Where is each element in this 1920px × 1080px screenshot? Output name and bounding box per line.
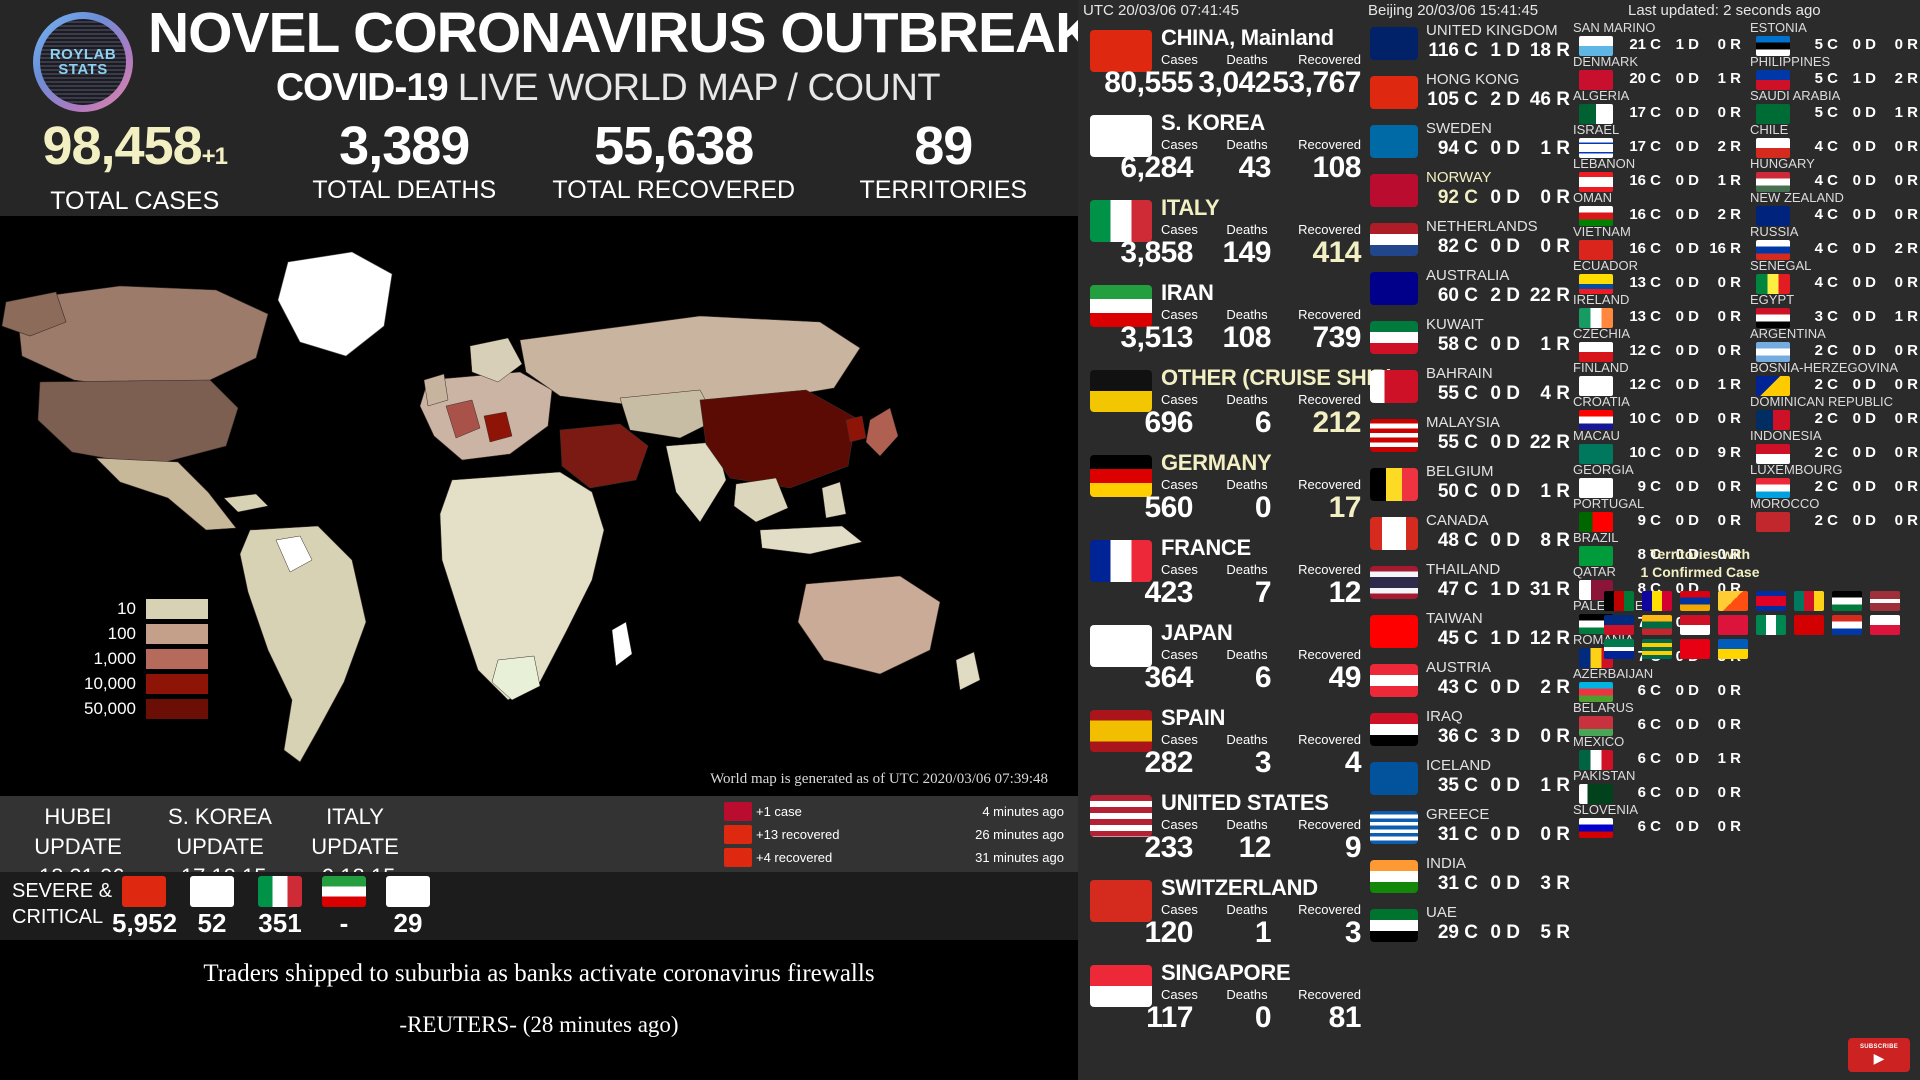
- value-deaths: 0 D: [1661, 206, 1699, 223]
- country-row-norway[interactable]: NORWAY92 C0 D0 R: [1368, 169, 1568, 218]
- country-row-croatia[interactable]: CROATIA10 C0 D0 R: [1573, 396, 1745, 430]
- country-row-vietnam[interactable]: VIETNAM16 C0 D16 R: [1573, 226, 1745, 260]
- legend-swatch: [146, 699, 208, 719]
- value-recovered: 1 R: [1520, 334, 1570, 356]
- country-row-kuwait[interactable]: KUWAIT58 C0 D1 R: [1368, 316, 1568, 365]
- country-stat-values: 105 C2 D46 R: [1418, 89, 1570, 111]
- country-name: MOROCCO: [1750, 496, 1819, 511]
- country-stat-values: 10 C0 D0 R: [1617, 410, 1745, 427]
- header-recovered: Recovered: [1289, 222, 1361, 237]
- value-cases: 364: [1083, 661, 1193, 695]
- territory-flag-afghanistan: [1604, 591, 1634, 611]
- country-row-georgia[interactable]: GEORGIA9 C0 D0 R: [1573, 464, 1745, 498]
- value-cases: 50 C: [1418, 481, 1478, 503]
- territory-flag-monaco: [1680, 615, 1710, 635]
- value-recovered: 1 R: [1876, 104, 1918, 121]
- value-recovered: 0 R: [1876, 512, 1918, 529]
- country-flag-croatia: [1579, 410, 1613, 430]
- territory-flag-bhutan: [1718, 591, 1748, 611]
- value-deaths: 0 D: [1661, 512, 1699, 529]
- country-flag-greece: [1370, 811, 1418, 844]
- legend-swatch: [146, 674, 208, 694]
- value-cases: 5 C: [1794, 70, 1838, 87]
- news-ticker: Traders shipped to suburbia as banks act…: [0, 940, 1078, 1080]
- subscribe-play-icon: ▶: [1874, 1050, 1885, 1067]
- country-row-iraq[interactable]: IRAQ36 C3 D0 R: [1368, 708, 1568, 757]
- value-recovered: 0 R: [1876, 478, 1918, 495]
- country-row-chile[interactable]: CHILE4 C0 D0 R: [1750, 124, 1920, 158]
- country-stat-headers: CasesDeathsRecovered: [1161, 307, 1361, 322]
- country-row-uae[interactable]: UAE29 C0 D5 R: [1368, 904, 1568, 953]
- country-stat-values: 9 C0 D0 R: [1617, 478, 1745, 495]
- value-deaths: 0 D: [1661, 104, 1699, 121]
- value-deaths: 6: [1193, 661, 1271, 695]
- country-flag-kuwait: [1370, 321, 1418, 354]
- value-recovered: 22 R: [1520, 285, 1570, 307]
- country-flag-lebanon: [1579, 172, 1613, 192]
- value-deaths: 0 D: [1478, 873, 1520, 895]
- country-row-denmark[interactable]: DENMARK20 C0 D1 R: [1573, 56, 1745, 90]
- country-row-bahrain[interactable]: BAHRAIN55 C0 D4 R: [1368, 365, 1568, 414]
- country-row-japan[interactable]: JAPANCasesDeathsRecovered364649: [1083, 617, 1363, 702]
- country-row-estonia[interactable]: ESTONIA5 C0 D0 R: [1750, 22, 1920, 56]
- country-row-australia[interactable]: AUSTRALIA60 C2 D22 R: [1368, 267, 1568, 316]
- severe-value: 52: [180, 908, 244, 939]
- value-deaths: 1: [1193, 916, 1271, 950]
- value-cases: 80,555: [1083, 66, 1193, 100]
- country-name: ICELAND: [1426, 757, 1491, 774]
- country-stat-values: 6 C0 D0 R: [1617, 716, 1745, 733]
- country-row-sanmarino[interactable]: SAN MARINO21 C1 D0 R: [1573, 22, 1745, 56]
- value-deaths: 3,042: [1193, 66, 1271, 100]
- header-recovered: Recovered: [1289, 137, 1361, 152]
- value-cases: 4 C: [1794, 240, 1838, 257]
- country-stat-values: 50 C0 D1 R: [1418, 481, 1570, 503]
- value-deaths: 6: [1193, 406, 1271, 440]
- country-row-dominican[interactable]: DOMINICAN REPUBLIC2 C0 D0 R: [1750, 396, 1920, 430]
- country-row-germany[interactable]: GERMANYCasesDeathsRecovered560017: [1083, 447, 1363, 532]
- value-recovered: 1 R: [1699, 172, 1741, 189]
- country-row-france[interactable]: FRANCECasesDeathsRecovered423712: [1083, 532, 1363, 617]
- header-cases: Cases: [1161, 902, 1226, 917]
- country-flag-argentina: [1756, 342, 1790, 362]
- value-deaths: 0 D: [1478, 236, 1520, 258]
- country-name: IRAN: [1161, 280, 1214, 306]
- value-recovered: 0 R: [1876, 274, 1918, 291]
- country-stat-values: 4 C0 D0 R: [1794, 206, 1920, 223]
- country-name: MEXICO: [1573, 734, 1624, 749]
- country-flag-bahrain: [1370, 370, 1418, 403]
- value-deaths: 3: [1193, 746, 1271, 780]
- header-recovered: Recovered: [1289, 817, 1361, 832]
- country-name: PAKISTAN: [1573, 768, 1635, 783]
- country-row-azerbaijan[interactable]: AZERBAIJAN6 C0 D0 R: [1573, 668, 1745, 702]
- update-bar: HUBEI UPDATE-18:21:06S. KOREA UPDATE-17:…: [0, 796, 1078, 872]
- value-cases: 105 C: [1418, 89, 1478, 111]
- map-legend: 101001,00010,00050,000: [62, 597, 208, 722]
- territory-flag-armenia: [1680, 591, 1710, 611]
- country-flag-norway: [1370, 174, 1418, 207]
- legend-label: 10: [62, 599, 146, 619]
- value-deaths: 0 D: [1661, 172, 1699, 189]
- country-row-morocco[interactable]: MOROCCO2 C0 D0 R: [1750, 498, 1920, 532]
- value-cases: 55 C: [1418, 383, 1478, 405]
- value-recovered: 0 R: [1699, 478, 1741, 495]
- country-name: ECUADOR: [1573, 258, 1638, 273]
- value-deaths: 0 D: [1478, 432, 1520, 454]
- stat-value: 55,638: [539, 118, 809, 174]
- value-recovered: 0 R: [1699, 716, 1741, 733]
- header-deaths: Deaths: [1226, 732, 1289, 747]
- value-cases: 6 C: [1617, 682, 1661, 699]
- country-stat-values: 3,513108739: [1083, 321, 1363, 355]
- country-flag-hongkong: [1370, 76, 1418, 109]
- value-cases: 10 C: [1617, 444, 1661, 461]
- country-name: CZECHIA: [1573, 326, 1630, 341]
- country-row-mexico[interactable]: MEXICO6 C0 D1 R: [1573, 736, 1745, 770]
- country-name: FRANCE: [1161, 535, 1251, 561]
- territory-flag-poland: [1870, 615, 1900, 635]
- header-deaths: Deaths: [1226, 562, 1289, 577]
- value-recovered: 0 R: [1520, 726, 1570, 748]
- country-name: MACAU: [1573, 428, 1620, 443]
- value-recovered: 9: [1271, 831, 1361, 865]
- country-row-oman[interactable]: OMAN16 C0 D2 R: [1573, 192, 1745, 226]
- country-stat-values: 94 C0 D1 R: [1418, 138, 1570, 160]
- country-name: PHILIPPINES: [1750, 54, 1830, 69]
- value-cases: 31 C: [1418, 824, 1478, 846]
- country-row-luxembourg[interactable]: LUXEMBOURG2 C0 D0 R: [1750, 464, 1920, 498]
- country-stat-values: 82 C0 D0 R: [1418, 236, 1570, 258]
- country-row-cruise[interactable]: OTHER (CRUISE SHIP)CasesDeathsRecovered6…: [1083, 362, 1363, 447]
- country-flag-russia: [1756, 240, 1790, 260]
- severe-value: 351: [248, 908, 312, 939]
- stat-total-deaths: 3,389TOTAL DEATHS: [270, 118, 540, 216]
- country-name: BRAZIL: [1573, 530, 1619, 545]
- country-stat-values: 55 C0 D4 R: [1418, 383, 1570, 405]
- legend-label: 10,000: [62, 674, 146, 694]
- value-recovered: 414: [1271, 236, 1361, 270]
- value-cases: 4 C: [1794, 206, 1838, 223]
- country-name: NEW ZEALAND: [1750, 190, 1844, 205]
- value-cases: 60 C: [1418, 285, 1478, 307]
- value-recovered: 3: [1271, 916, 1361, 950]
- country-row-macau[interactable]: MACAU10 C0 D9 R: [1573, 430, 1745, 464]
- country-name: SWITZERLAND: [1161, 875, 1318, 901]
- update-title: ITALY UPDATE: [290, 802, 420, 862]
- value-recovered: 0 R: [1699, 784, 1741, 801]
- country-row-greece[interactable]: GREECE31 C0 D0 R: [1368, 806, 1568, 855]
- value-deaths: 0 D: [1838, 512, 1876, 529]
- country-flag-bosnia: [1756, 376, 1790, 396]
- logo-line2: STATS: [58, 62, 107, 77]
- country-stat-values: 5 C0 D0 R: [1794, 36, 1920, 53]
- country-row-newzealand[interactable]: NEW ZEALAND4 C0 D0 R: [1750, 192, 1920, 226]
- country-row-portugal[interactable]: PORTUGAL9 C0 D0 R: [1573, 498, 1745, 532]
- country-stat-values: 31 C0 D3 R: [1418, 873, 1570, 895]
- country-name: SPAIN: [1161, 705, 1225, 731]
- value-recovered: 0 R: [1699, 308, 1741, 325]
- value-cases: 2 C: [1794, 410, 1838, 427]
- country-row-egypt[interactable]: EGYPT3 C0 D1 R: [1750, 294, 1920, 328]
- country-stat-headers: CasesDeathsRecovered: [1161, 987, 1361, 1002]
- news-source: -REUTERS- (28 minutes ago): [0, 1012, 1078, 1038]
- territories-flag-grid: [1600, 589, 1910, 661]
- country-row-uk[interactable]: UNITED KINGDOM116 C1 D18 R: [1368, 22, 1568, 71]
- value-deaths: 0 D: [1478, 138, 1520, 160]
- value-cases: 5 C: [1794, 104, 1838, 121]
- value-cases: 21 C: [1617, 36, 1661, 53]
- country-row-hongkong[interactable]: HONG KONG105 C2 D46 R: [1368, 71, 1568, 120]
- value-recovered: 9 R: [1699, 444, 1741, 461]
- country-row-skorea[interactable]: S. KOREACasesDeathsRecovered6,28443108: [1083, 107, 1363, 192]
- country-stat-headers: CasesDeathsRecovered: [1161, 647, 1361, 662]
- value-deaths: 0 D: [1478, 824, 1520, 846]
- country-row-slovenia[interactable]: SLOVENIA6 C0 D0 R: [1573, 804, 1745, 838]
- value-deaths: 0 D: [1838, 478, 1876, 495]
- country-stat-values: 6 C0 D1 R: [1617, 750, 1745, 767]
- country-stat-values: 12 C0 D1 R: [1617, 376, 1745, 393]
- country-name: SWEDEN: [1426, 120, 1492, 137]
- country-name: IRAQ: [1426, 708, 1463, 725]
- severe-critical-label: SEVERE & CRITICAL: [12, 878, 112, 930]
- severe-value: -: [312, 908, 376, 939]
- country-row-senegal[interactable]: SENEGAL4 C0 D0 R: [1750, 260, 1920, 294]
- country-row-austria[interactable]: AUSTRIA43 C0 D2 R: [1368, 659, 1568, 708]
- country-flag-chile: [1756, 138, 1790, 158]
- country-row-usa[interactable]: UNITED STATESCasesDeathsRecovered233129: [1083, 787, 1363, 872]
- country-row-belgium[interactable]: BELGIUM50 C0 D1 R: [1368, 463, 1568, 512]
- value-deaths: 2 D: [1478, 285, 1520, 307]
- value-cases: 17 C: [1617, 138, 1661, 155]
- value-deaths: 149: [1193, 236, 1271, 270]
- value-cases: 4 C: [1794, 172, 1838, 189]
- country-stat-headers: CasesDeathsRecovered: [1161, 817, 1361, 832]
- summary-stats-row: 98,458+1TOTAL CASES3,389TOTAL DEATHS55,6…: [0, 118, 1078, 216]
- value-deaths: 1 D: [1838, 70, 1876, 87]
- country-flag-senegal: [1756, 274, 1790, 294]
- country-flag-austria: [1370, 664, 1418, 697]
- country-flag-thailand: [1370, 566, 1418, 599]
- value-cases: 4 C: [1794, 138, 1838, 155]
- country-name: DOMINICAN REPUBLIC: [1750, 394, 1893, 409]
- country-stat-values: 423712: [1083, 576, 1363, 610]
- severe-item-iran: -: [312, 876, 376, 939]
- country-row-singapore[interactable]: SINGAPORECasesDeathsRecovered117081: [1083, 957, 1363, 1042]
- country-flag-denmark: [1579, 70, 1613, 90]
- country-row-sweden[interactable]: SWEDEN94 C0 D1 R: [1368, 120, 1568, 169]
- recent-updates-ticker: +1 case4 minutes ago+13 recovered26 minu…: [724, 800, 1064, 869]
- country-row-israel[interactable]: ISRAEL17 C0 D2 R: [1573, 124, 1745, 158]
- value-recovered: 108: [1271, 151, 1361, 185]
- country-flag-belarus: [1579, 716, 1613, 736]
- header-cases: Cases: [1161, 987, 1226, 1002]
- country-row-ecuador[interactable]: ECUADOR13 C0 D0 R: [1573, 260, 1745, 294]
- value-recovered: 0 R: [1699, 274, 1741, 291]
- value-deaths: 0 D: [1661, 410, 1699, 427]
- news-headline: Traders shipped to suburbia as banks act…: [0, 960, 1078, 988]
- value-deaths: 0: [1193, 491, 1271, 525]
- country-name: PORTUGAL: [1573, 496, 1644, 511]
- value-deaths: 0 D: [1478, 187, 1520, 209]
- territory-flag-nigeria: [1756, 615, 1786, 635]
- country-row-iceland[interactable]: ICELAND35 C0 D1 R: [1368, 757, 1568, 806]
- country-row-malaysia[interactable]: MALAYSIA55 C0 D22 R: [1368, 414, 1568, 463]
- value-recovered: 2 R: [1699, 138, 1741, 155]
- dashboard-header: ROYLAB STATS NOVEL CORONAVIRUS OUTBREAK …: [0, 0, 1078, 216]
- country-stat-values: 43 C0 D2 R: [1418, 677, 1570, 699]
- country-row-italy[interactable]: ITALYCasesDeathsRecovered3,858149414: [1083, 192, 1363, 277]
- value-recovered: 18 R: [1520, 40, 1570, 62]
- ticker-text: +1 case: [756, 804, 982, 819]
- country-row-saudi[interactable]: SAUDI ARABIA5 C0 D1 R: [1750, 90, 1920, 124]
- ticker-item: +13 recovered26 minutes ago: [724, 823, 1064, 846]
- country-row-pakistan[interactable]: PAKISTAN6 C0 D0 R: [1573, 770, 1745, 804]
- country-row-czechia[interactable]: CZECHIA12 C0 D0 R: [1573, 328, 1745, 362]
- header-cases: Cases: [1161, 52, 1226, 67]
- country-stat-values: 560017: [1083, 491, 1363, 525]
- country-name: LEBANON: [1573, 156, 1635, 171]
- value-deaths: 0 D: [1661, 750, 1699, 767]
- country-row-hungary[interactable]: HUNGARY4 C0 D0 R: [1750, 158, 1920, 192]
- value-deaths: 0 D: [1661, 818, 1699, 835]
- country-name: SAN MARINO: [1573, 20, 1655, 35]
- value-recovered: 0 R: [1520, 824, 1570, 846]
- value-recovered: 0 R: [1520, 187, 1570, 209]
- value-cases: 2 C: [1794, 342, 1838, 359]
- country-stat-values: 2 C0 D0 R: [1794, 342, 1920, 359]
- country-name: UAE: [1426, 904, 1457, 921]
- country-flag-indonesia: [1756, 444, 1790, 464]
- value-cases: 3 C: [1794, 308, 1838, 325]
- subtitle-normal: LIVE WORLD MAP / COUNT: [448, 67, 940, 109]
- value-deaths: 0 D: [1838, 342, 1876, 359]
- value-deaths: 3 D: [1478, 726, 1520, 748]
- severe-label-line2: CRITICAL: [12, 904, 112, 930]
- value-recovered: 49: [1271, 661, 1361, 695]
- country-row-argentina[interactable]: ARGENTINA2 C0 D0 R: [1750, 328, 1920, 362]
- country-flag-pakistan: [1579, 784, 1613, 804]
- country-row-netherlands[interactable]: NETHERLANDS82 C0 D0 R: [1368, 218, 1568, 267]
- territory-flag-cameroon: [1794, 591, 1824, 611]
- territories-title-line1: Territories with: [1490, 545, 1910, 563]
- ticker-flag-china: [724, 848, 752, 867]
- header-recovered: Recovered: [1289, 477, 1361, 492]
- update-title: S. KOREA UPDATE: [140, 802, 300, 862]
- value-cases: 82 C: [1418, 236, 1478, 258]
- value-recovered: 0 R: [1520, 236, 1570, 258]
- value-deaths: 108: [1193, 321, 1271, 355]
- country-row-spain[interactable]: SPAINCasesDeathsRecovered28234: [1083, 702, 1363, 787]
- header-recovered: Recovered: [1289, 647, 1361, 662]
- value-cases: 13 C: [1617, 308, 1661, 325]
- legend-label: 100: [62, 624, 146, 644]
- value-cases: 6 C: [1617, 750, 1661, 767]
- left-panel: ROYLAB STATS NOVEL CORONAVIRUS OUTBREAK …: [0, 0, 1078, 1080]
- country-row-lebanon[interactable]: LEBANON16 C0 D1 R: [1573, 158, 1745, 192]
- stat-label: TOTAL RECOVERED: [539, 176, 809, 205]
- country-stat-values: 116 C1 D18 R: [1418, 40, 1570, 62]
- value-cases: 9 C: [1617, 478, 1661, 495]
- country-row-iran[interactable]: IRANCasesDeathsRecovered3,513108739: [1083, 277, 1363, 362]
- country-row-belarus[interactable]: BELARUS6 C0 D0 R: [1573, 702, 1745, 736]
- country-stat-values: 35 C0 D1 R: [1418, 775, 1570, 797]
- value-recovered: 0 R: [1699, 410, 1741, 427]
- value-recovered: 1 R: [1876, 308, 1918, 325]
- subscribe-button[interactable]: SUBSCRIBE ▶: [1848, 1038, 1910, 1072]
- country-stat-values: 4 C0 D0 R: [1794, 274, 1920, 291]
- country-flag-uk: [1370, 27, 1418, 60]
- value-cases: 117: [1083, 1001, 1193, 1035]
- value-deaths: 0 D: [1838, 138, 1876, 155]
- country-stat-values: 9 C0 D0 R: [1617, 512, 1745, 529]
- value-cases: 13 C: [1617, 274, 1661, 291]
- territory-flag-paraguay: [1832, 615, 1862, 635]
- logo-line1: ROYLAB: [50, 47, 116, 62]
- value-recovered: 3 R: [1520, 873, 1570, 895]
- header-deaths: Deaths: [1226, 307, 1289, 322]
- country-row-ireland[interactable]: IRELAND13 C0 D0 R: [1573, 294, 1745, 328]
- value-deaths: 0 D: [1838, 376, 1876, 393]
- header-cases: Cases: [1161, 137, 1226, 152]
- value-cases: 423: [1083, 576, 1193, 610]
- country-stat-values: 17 C0 D2 R: [1617, 138, 1745, 155]
- country-name: BOSNIA-HERZEGOVINA: [1750, 360, 1898, 375]
- severe-flag-skorea: [190, 876, 234, 907]
- territory-flag-nepal: [1718, 615, 1748, 635]
- legend-label: 50,000: [62, 699, 146, 719]
- country-row-algeria[interactable]: ALGERIA17 C0 D0 R: [1573, 90, 1745, 124]
- country-stat-values: 117081: [1083, 1001, 1363, 1035]
- header-recovered: Recovered: [1289, 732, 1361, 747]
- country-row-finland[interactable]: FINLAND12 C0 D1 R: [1573, 362, 1745, 396]
- value-deaths: 0 D: [1478, 481, 1520, 503]
- country-name: ARGENTINA: [1750, 326, 1826, 341]
- country-row-india[interactable]: INDIA31 C0 D3 R: [1368, 855, 1568, 904]
- value-deaths: 0 D: [1661, 70, 1699, 87]
- value-cases: 16 C: [1617, 206, 1661, 223]
- value-deaths: 0 D: [1661, 342, 1699, 359]
- country-name: CANADA: [1426, 512, 1489, 529]
- dashboard-root: ROYLAB STATS NOVEL CORONAVIRUS OUTBREAK …: [0, 0, 1920, 1080]
- severe-item-italy: 351: [248, 876, 312, 939]
- country-row-russia[interactable]: RUSSIA4 C0 D2 R: [1750, 226, 1920, 260]
- country-name: CHILE: [1750, 122, 1788, 137]
- country-flag-hungary: [1756, 172, 1790, 192]
- value-cases: 58 C: [1418, 334, 1478, 356]
- country-row-bosnia[interactable]: BOSNIA-HERZEGOVINA2 C0 D0 R: [1750, 362, 1920, 396]
- country-row-china[interactable]: CHINA, MainlandCasesDeathsRecovered80,55…: [1083, 22, 1363, 107]
- country-name: S. KOREA: [1161, 110, 1265, 136]
- country-flag-iceland: [1370, 762, 1418, 795]
- country-flag-israel: [1579, 138, 1613, 158]
- country-stat-values: 4 C0 D0 R: [1794, 172, 1920, 189]
- value-deaths: 0 D: [1478, 677, 1520, 699]
- header-deaths: Deaths: [1226, 392, 1289, 407]
- country-name: BELGIUM: [1426, 463, 1494, 480]
- value-deaths: 43: [1193, 151, 1271, 185]
- value-recovered: 12: [1271, 576, 1361, 610]
- country-name: ISRAEL: [1573, 122, 1619, 137]
- country-row-switz[interactable]: SWITZERLANDCasesDeathsRecovered12013: [1083, 872, 1363, 957]
- value-recovered: 81: [1271, 1001, 1361, 1035]
- country-name: INDIA: [1426, 855, 1466, 872]
- header-deaths: Deaths: [1226, 222, 1289, 237]
- country-row-indonesia[interactable]: INDONESIA2 C0 D0 R: [1750, 430, 1920, 464]
- severe-label-line1: SEVERE &: [12, 878, 112, 904]
- ticker-ago: 26 minutes ago: [975, 827, 1064, 842]
- country-row-philippines[interactable]: PHILIPPINES5 C1 D2 R: [1750, 56, 1920, 90]
